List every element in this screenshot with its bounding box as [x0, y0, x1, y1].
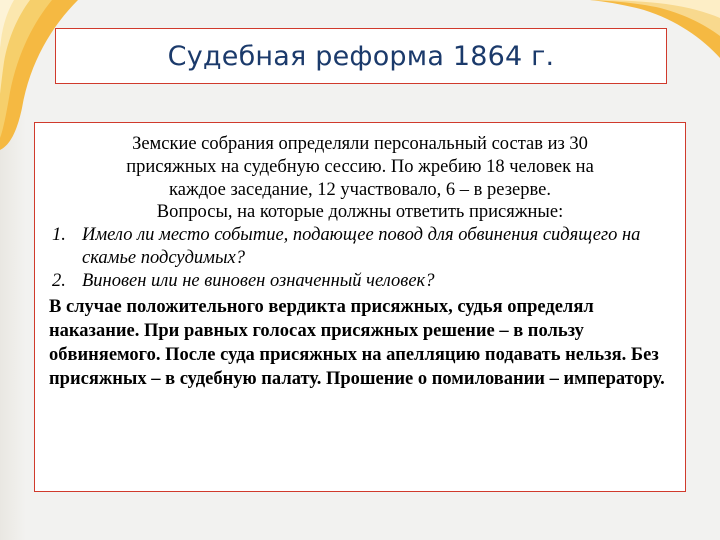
title-box: Судебная реформа 1864 г.: [55, 28, 667, 84]
content-box: Земские собрания определяли персональный…: [34, 122, 686, 492]
list-item: Виновен или не виновен означенный челове…: [49, 270, 671, 293]
intro-line-4: Вопросы, на которые должны ответить прис…: [49, 201, 671, 224]
intro-line-1: Земские собрания определяли персональный…: [49, 133, 671, 156]
left-edge-strip: [0, 0, 26, 540]
questions-list: Имело ли место событие, подающее повод д…: [49, 224, 671, 293]
intro-line-2: присяжных на судебную сессию. По жребию …: [49, 156, 671, 179]
list-item: Имело ли место событие, подающее повод д…: [49, 224, 671, 270]
slide: Судебная реформа 1864 г. Земские собрани…: [0, 0, 720, 540]
conclusion-paragraph: В случае положительного вердикта присяжн…: [49, 295, 671, 391]
intro-line-3: каждое заседание, 12 участвовало, 6 – в …: [49, 179, 671, 202]
page-title: Судебная реформа 1864 г.: [168, 41, 555, 72]
